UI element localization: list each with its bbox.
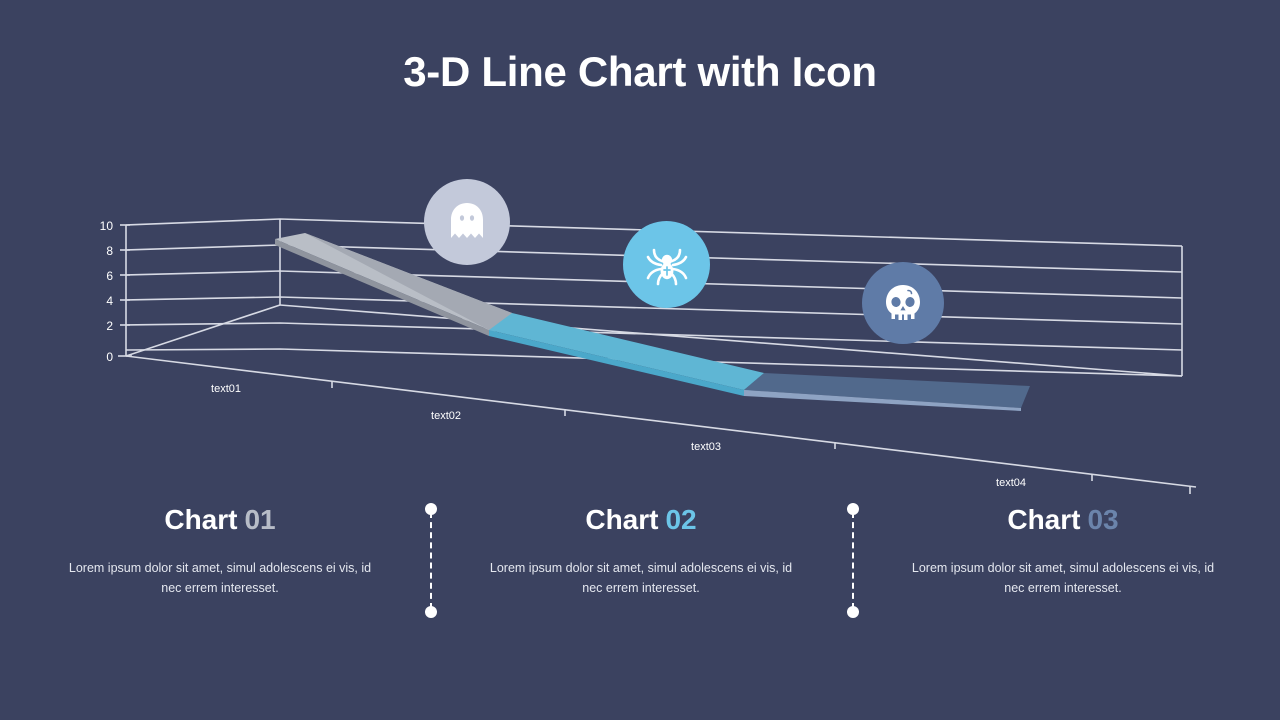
x-tick-label: text01 — [211, 383, 241, 395]
legend-title: Chart03 — [893, 505, 1233, 536]
legend-title-number: 01 — [244, 504, 275, 535]
legend-title-word: Chart — [164, 504, 237, 535]
legend-description: Lorem ipsum dolor sit amet, simul adoles… — [50, 558, 390, 599]
x-tick-label: text04 — [996, 477, 1026, 489]
chart-x-ticks — [332, 381, 1190, 494]
spider-icon[interactable] — [623, 221, 710, 308]
x-tick-label: text03 — [691, 441, 721, 453]
y-tick-label: 6 — [106, 269, 113, 283]
divider-dot-bottom — [847, 606, 859, 618]
slide-root: 3-D Line Chart with Icon — [0, 0, 1280, 720]
legend-title-word: Chart — [585, 504, 658, 535]
chart-y-tick-labels: 10 8 6 4 2 0 — [100, 219, 114, 364]
y-tick-label: 10 — [100, 219, 114, 233]
legend-title-word: Chart — [1007, 504, 1080, 535]
legend-divider — [425, 503, 437, 618]
legend-item-chart-01[interactable]: Chart01 Lorem ipsum dolor sit amet, simu… — [50, 505, 390, 598]
chart-y-ticks — [118, 225, 132, 356]
legend-row: Chart01 Lorem ipsum dolor sit amet, simu… — [0, 505, 1280, 635]
y-tick-label: 0 — [106, 350, 113, 364]
divider-dashed-line — [852, 512, 854, 609]
legend-item-chart-03[interactable]: Chart03 Lorem ipsum dolor sit amet, simu… — [893, 505, 1233, 598]
y-tick-label: 8 — [106, 244, 113, 258]
x-tick-label: text02 — [431, 410, 461, 422]
ribbon-segment-series-2 — [489, 313, 764, 396]
legend-title-number: 03 — [1087, 504, 1118, 535]
ghost-icon[interactable] — [424, 179, 510, 265]
legend-divider — [847, 503, 859, 618]
legend-description: Lorem ipsum dolor sit amet, simul adoles… — [471, 558, 811, 599]
y-tick-label: 2 — [106, 319, 113, 333]
divider-dashed-line — [430, 512, 432, 609]
legend-title-number: 02 — [665, 504, 696, 535]
legend-title: Chart01 — [50, 505, 390, 536]
legend-description: Lorem ipsum dolor sit amet, simul adoles… — [893, 558, 1233, 599]
ribbon-segment-series-3 — [744, 373, 1030, 411]
skull-icon[interactable] — [862, 262, 944, 344]
y-tick-label: 4 — [106, 294, 113, 308]
chart-floor-axis — [126, 305, 1196, 487]
divider-dot-bottom — [425, 606, 437, 618]
legend-item-chart-02[interactable]: Chart02 Lorem ipsum dolor sit amet, simu… — [471, 505, 811, 598]
legend-title: Chart02 — [471, 505, 811, 536]
